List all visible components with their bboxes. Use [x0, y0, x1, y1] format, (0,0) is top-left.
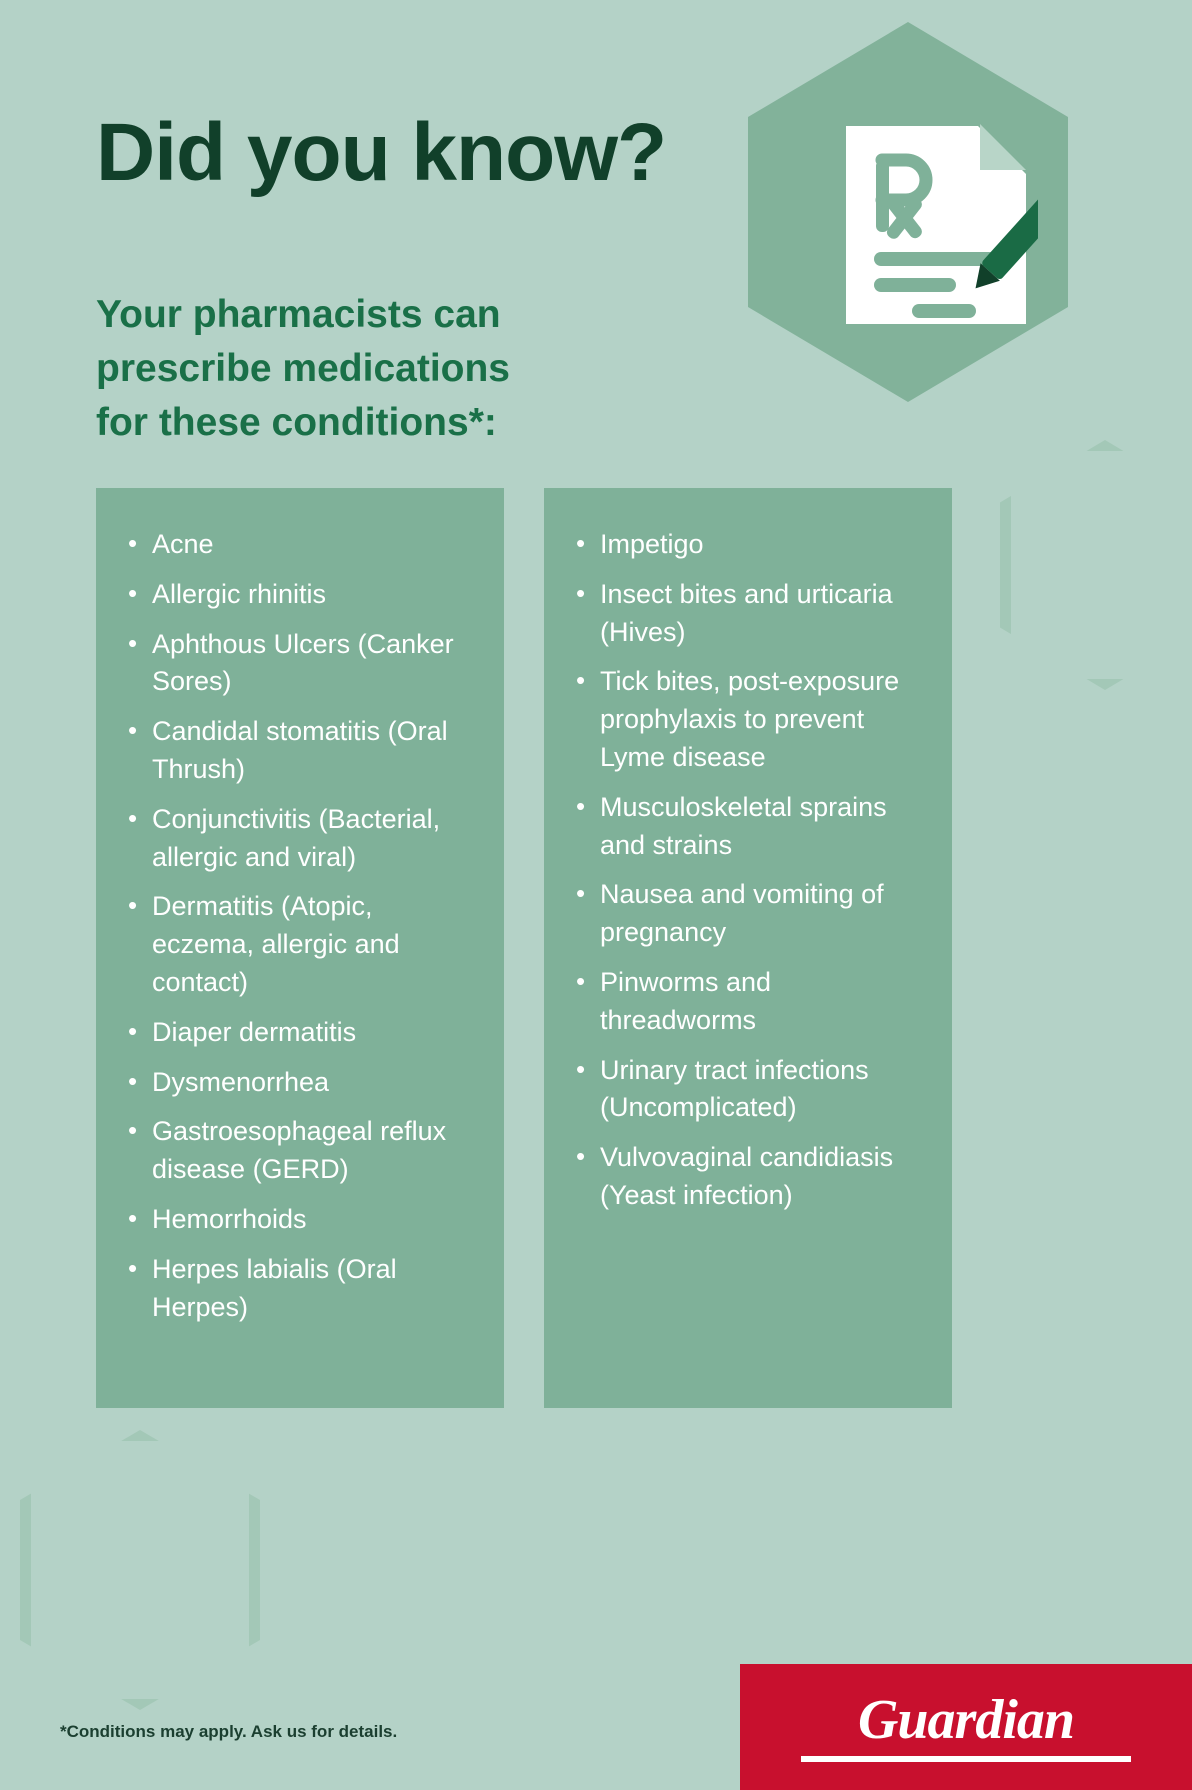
list-item: Herpes labialis (Oral Herpes)	[126, 1251, 478, 1327]
list-item: Hemorrhoids	[126, 1201, 478, 1239]
list-item: Diaper dermatitis	[126, 1014, 478, 1052]
conditions-card-left: Acne Allergic rhinitis Aphthous Ulcers (…	[96, 488, 504, 1408]
list-item: Nausea and vomiting of pregnancy	[574, 876, 926, 952]
list-item: Pinworms and threadworms	[574, 964, 926, 1040]
guardian-logo: Guardian	[740, 1664, 1192, 1790]
list-item: Gastroesophageal reflux disease (GERD)	[126, 1113, 478, 1189]
guardian-logo-underline	[801, 1756, 1131, 1762]
hexagon-outline-right	[1000, 440, 1192, 690]
list-item: Candidal stomatitis (Oral Thrush)	[126, 713, 478, 789]
list-item: Acne	[126, 526, 478, 564]
list-item: Dermatitis (Atopic, eczema, allergic and…	[126, 888, 478, 1001]
subheading-line-3: for these conditions*:	[96, 396, 510, 450]
subheading: Your pharmacists can prescribe medicatio…	[96, 288, 510, 449]
hexagon-outline-bottom-left	[20, 1430, 260, 1710]
list-item: Musculoskeletal sprains and strains	[574, 789, 926, 865]
list-item: Conjunctivitis (Bacterial, allergic and …	[126, 801, 478, 877]
conditions-card-right: Impetigo Insect bites and urticaria (Hiv…	[544, 488, 952, 1408]
page-title: Did you know?	[96, 112, 666, 194]
list-item: Impetigo	[574, 526, 926, 564]
disclaimer-footnote: *Conditions may apply. Ask us for detail…	[60, 1722, 397, 1742]
rx-prescription-icon	[838, 120, 1038, 330]
conditions-list-right: Impetigo Insect bites and urticaria (Hiv…	[574, 526, 926, 1215]
conditions-list-left: Acne Allergic rhinitis Aphthous Ulcers (…	[126, 526, 478, 1326]
list-item: Insect bites and urticaria (Hives)	[574, 576, 926, 652]
subheading-line-1: Your pharmacists can	[96, 288, 510, 342]
list-item: Urinary tract infections (Uncomplicated)	[574, 1052, 926, 1128]
list-item: Dysmenorrhea	[126, 1064, 478, 1102]
subheading-line-2: prescribe medications	[96, 342, 510, 396]
list-item: Aphthous Ulcers (Canker Sores)	[126, 626, 478, 702]
list-item: Vulvovaginal candidiasis (Yeast infectio…	[574, 1139, 926, 1215]
list-item: Allergic rhinitis	[126, 576, 478, 614]
guardian-logo-wordmark: Guardian	[858, 1692, 1074, 1748]
list-item: Tick bites, post-exposure prophylaxis to…	[574, 663, 926, 776]
